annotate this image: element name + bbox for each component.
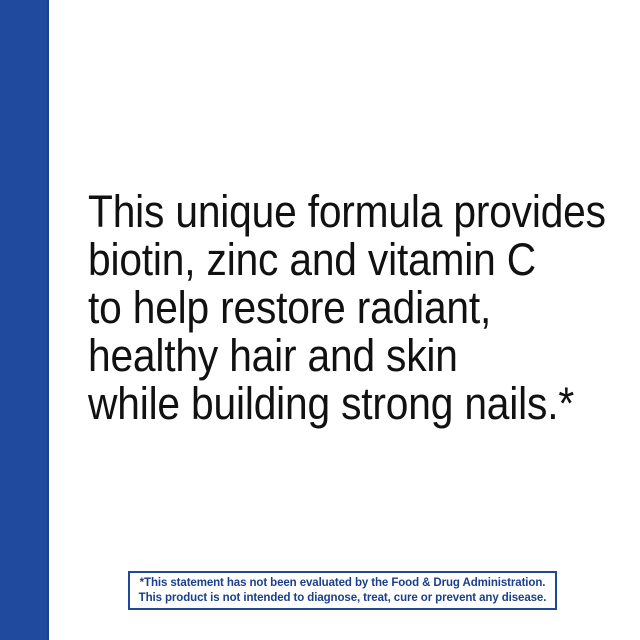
product-claim-panel: This unique formula provides biotin, zin… [0,0,640,640]
headline-block: This unique formula provides biotin, zin… [88,188,608,428]
headline-line-1: This unique formula provides [88,188,559,236]
disclaimer-line-2: This product is not intended to diagnose… [139,591,547,606]
left-accent-bar [0,0,49,640]
left-accent-bar-edge [47,0,49,640]
headline-line-3: to help restore radiant, [88,284,559,332]
fda-disclaimer-box: *This statement has not been evaluated b… [128,571,557,610]
headline-line-2: biotin, zinc and vitamin C [88,236,559,284]
headline-line-5: while building strong nails.* [88,380,559,428]
disclaimer-line-1: *This statement has not been evaluated b… [140,576,546,591]
headline-line-4: healthy hair and skin [88,332,559,380]
